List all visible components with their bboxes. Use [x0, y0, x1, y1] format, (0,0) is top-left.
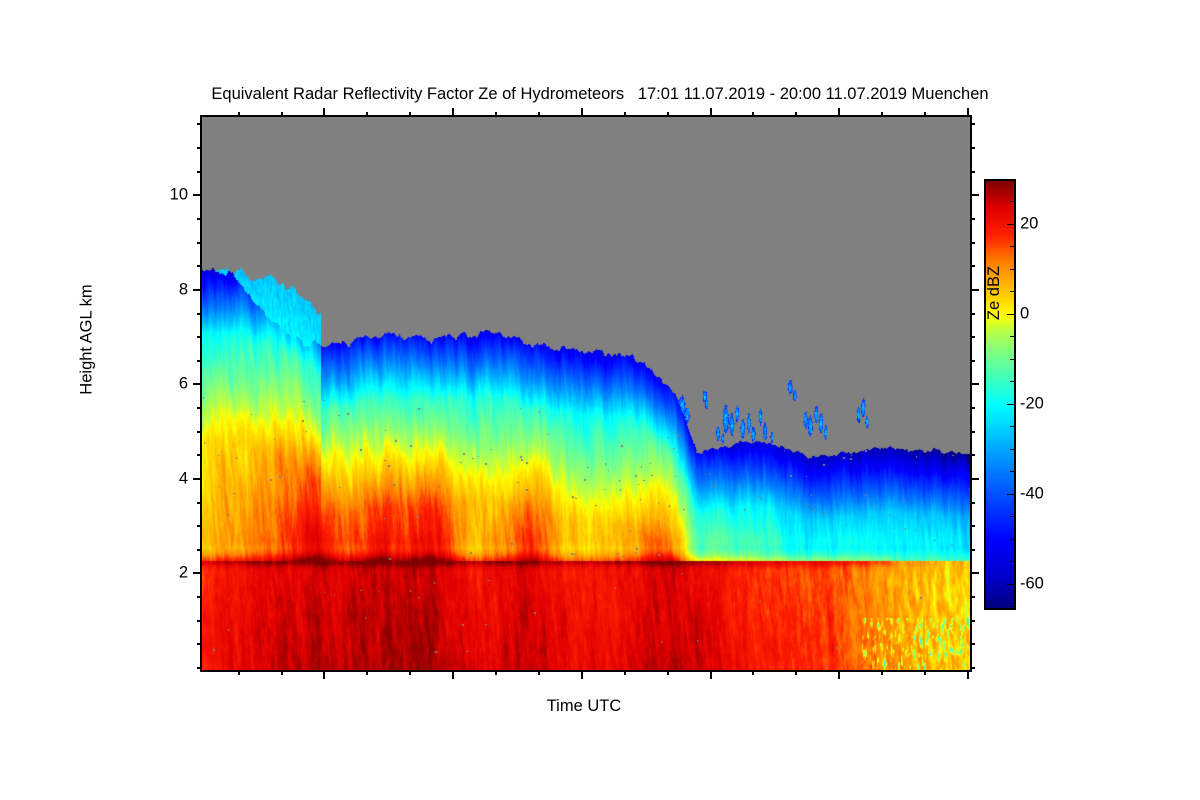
y-tick: [197, 407, 202, 409]
y-tick-right: [970, 313, 975, 315]
y-tick-right: [970, 572, 979, 574]
y-tick-right: [970, 407, 975, 409]
y-tick-right: [970, 525, 975, 527]
x-tick-top: [581, 108, 583, 117]
colorbar-tick: [1010, 516, 1014, 517]
x-tick-top: [366, 112, 368, 117]
colorbar-tick-label: -40: [1020, 484, 1044, 503]
x-tick-top: [238, 112, 240, 117]
y-tick-right: [970, 454, 975, 456]
colorbar-tick: [1007, 404, 1014, 405]
x-tick: [667, 670, 669, 675]
y-tick-label: 10: [130, 186, 188, 205]
x-tick-top: [452, 108, 454, 117]
y-tick-right: [970, 596, 975, 598]
colorbar-tick-label: -20: [1020, 394, 1044, 413]
y-tick: [197, 123, 202, 125]
colorbar-tick: [1010, 246, 1014, 247]
y-tick-label: 6: [130, 375, 188, 394]
y-tick-label: 8: [130, 280, 188, 299]
x-tick: [710, 670, 712, 679]
x-tick: [452, 670, 454, 679]
x-tick: [881, 670, 883, 675]
y-tick-right: [970, 667, 975, 669]
y-tick-right: [970, 549, 975, 551]
y-tick: [197, 525, 202, 527]
colorbar-tick: [1010, 381, 1014, 382]
x-tick-top: [538, 112, 540, 117]
y-tick-right: [970, 242, 975, 244]
colorbar-tick: [1010, 606, 1014, 607]
y-tick-label: 4: [130, 469, 188, 488]
x-tick-top: [409, 112, 411, 117]
x-tick-top: [710, 108, 712, 117]
y-tick: [197, 620, 202, 622]
colorbar-tick-label: 20: [1020, 214, 1038, 233]
colorbar-tick: [1010, 471, 1014, 472]
y-tick-right: [970, 289, 979, 291]
colorbar-tick: [1010, 201, 1014, 202]
y-tick: [193, 289, 202, 291]
y-tick-right: [970, 502, 975, 504]
y-tick-right: [970, 431, 975, 433]
x-tick: [409, 670, 411, 675]
y-tick: [197, 502, 202, 504]
y-tick-right: [970, 643, 975, 645]
x-tick-top: [495, 112, 497, 117]
y-tick: [193, 478, 202, 480]
x-tick: [238, 670, 240, 675]
radar-heatmap-canvas: [202, 117, 970, 670]
x-tick: [581, 670, 583, 679]
y-tick-right: [970, 265, 975, 267]
x-axis-label: Time UTC: [200, 697, 968, 716]
y-tick-right: [970, 620, 975, 622]
y-tick: [197, 265, 202, 267]
x-tick-top: [838, 108, 840, 117]
colorbar-label: Ze dBZ: [985, 193, 1004, 393]
x-tick-top: [323, 108, 325, 117]
x-tick: [538, 670, 540, 675]
radar-reflectivity-figure: Equivalent Radar Reflectivity Factor Ze …: [0, 0, 1200, 800]
y-tick: [197, 454, 202, 456]
colorbar-tick: [1010, 291, 1014, 292]
x-tick: [795, 670, 797, 675]
x-tick: [967, 670, 969, 679]
y-tick-right: [970, 478, 979, 480]
x-tick-top: [924, 112, 926, 117]
y-tick-right: [970, 194, 979, 196]
y-tick-right: [970, 171, 975, 173]
y-tick: [193, 572, 202, 574]
y-tick: [197, 360, 202, 362]
page-title: Equivalent Radar Reflectivity Factor Ze …: [0, 85, 1200, 104]
y-tick: [197, 171, 202, 173]
y-tick: [197, 643, 202, 645]
y-tick: [197, 218, 202, 220]
x-tick-top: [624, 112, 626, 117]
colorbar-tick-label: -60: [1020, 574, 1044, 593]
y-axis-label: Height AGL km: [78, 240, 97, 440]
x-tick-top: [281, 112, 283, 117]
x-tick-top: [667, 112, 669, 117]
colorbar-tick: [1010, 336, 1014, 337]
colorbar-tick-label: 0: [1020, 304, 1029, 323]
y-tick: [197, 147, 202, 149]
y-tick-right: [970, 383, 979, 385]
colorbar-tick: [1010, 449, 1014, 450]
colorbar-tick: [1010, 539, 1014, 540]
colorbar-tick: [1007, 314, 1014, 315]
y-tick-label: 2: [130, 564, 188, 583]
colorbar-tick: [1010, 269, 1014, 270]
y-tick: [197, 336, 202, 338]
y-tick-right: [970, 147, 975, 149]
colorbar-tick: [1007, 584, 1014, 585]
y-tick: [197, 549, 202, 551]
x-tick-top: [752, 112, 754, 117]
colorbar-tick: [1007, 224, 1014, 225]
x-tick-top: [795, 112, 797, 117]
x-tick-top: [967, 108, 969, 117]
y-tick: [197, 242, 202, 244]
x-tick: [323, 670, 325, 679]
y-tick: [197, 313, 202, 315]
x-tick-top: [881, 112, 883, 117]
y-tick-right: [970, 360, 975, 362]
y-tick-right: [970, 336, 975, 338]
y-tick: [197, 667, 202, 669]
y-tick: [193, 383, 202, 385]
x-tick: [281, 670, 283, 675]
colorbar-tick: [1010, 561, 1014, 562]
plot-area: [200, 115, 972, 672]
y-tick: [193, 194, 202, 196]
y-tick: [197, 431, 202, 433]
y-tick-right: [970, 218, 975, 220]
y-tick-right: [970, 123, 975, 125]
x-tick: [752, 670, 754, 675]
y-tick: [197, 596, 202, 598]
colorbar-tick: [1010, 426, 1014, 427]
colorbar-tick: [1010, 359, 1014, 360]
colorbar-tick: [1010, 179, 1014, 180]
colorbar-tick: [1007, 494, 1014, 495]
x-tick: [924, 670, 926, 675]
x-tick: [838, 670, 840, 679]
x-tick: [495, 670, 497, 675]
x-tick: [366, 670, 368, 675]
x-tick: [624, 670, 626, 675]
